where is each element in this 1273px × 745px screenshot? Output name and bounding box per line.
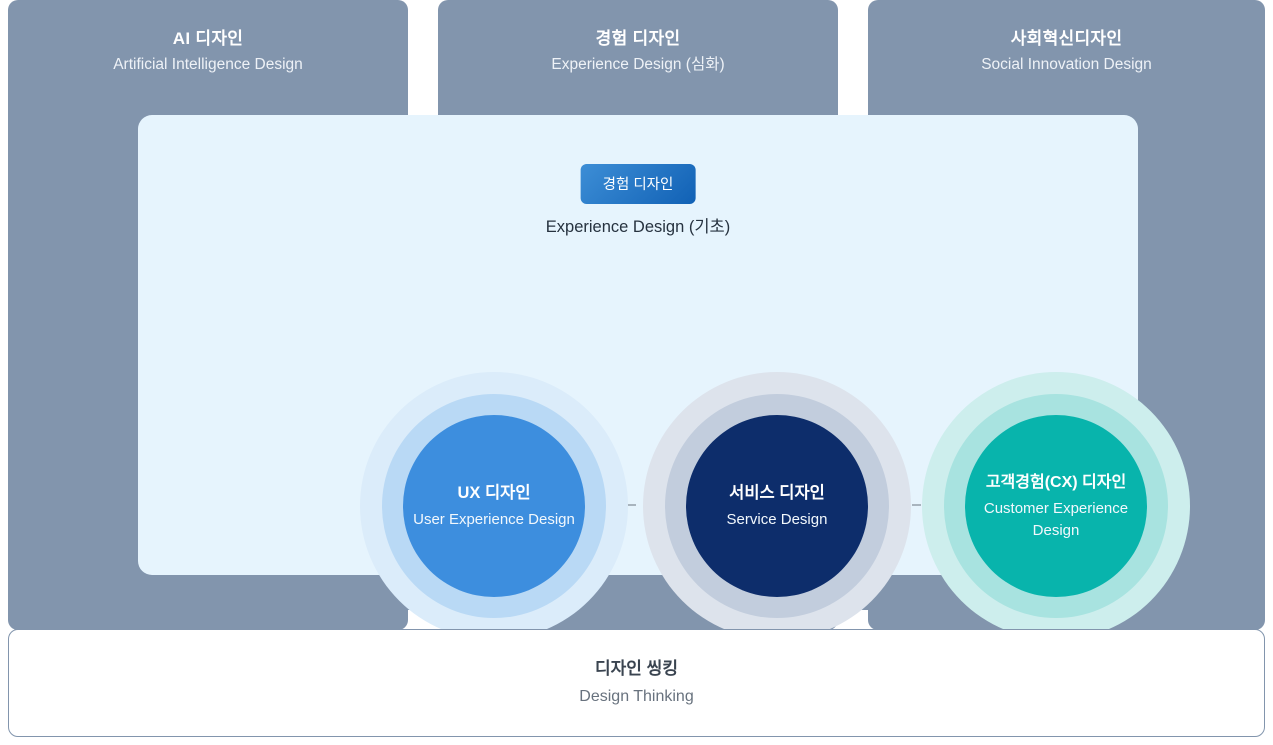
diagram-canvas: AI 디자인 Artificial Intelligence Design 경험… [0, 0, 1273, 745]
panel-ai-design-title-ko: AI 디자인 [8, 26, 408, 52]
circle-service-design-title-en: Service Design [727, 509, 828, 531]
panel-experience-design-title-ko: 경험 디자인 [438, 26, 838, 52]
circle-group-service-design[interactable]: 서비스 디자인 Service Design [643, 372, 911, 640]
experience-design-card: 경험 디자인 Experience Design (기초) UX 디자인 Use… [138, 115, 1138, 575]
circle-core-service-design: 서비스 디자인 Service Design [686, 415, 868, 597]
experience-design-badge[interactable]: 경험 디자인 [581, 164, 696, 204]
circle-service-design-title-ko: 서비스 디자인 [729, 481, 825, 506]
panel-social-innovation-title-ko: 사회혁신디자인 [868, 26, 1265, 52]
design-thinking-title-ko: 디자인 씽킹 [595, 655, 678, 683]
circle-cx-design-title-en: Customer Experience Design [973, 498, 1139, 542]
circle-group-cx-design[interactable]: 고객경험(CX) 디자인 Customer Experience Design [922, 372, 1190, 640]
panel-social-innovation-title-en: Social Innovation Design [868, 52, 1265, 78]
circle-group-ux-design[interactable]: UX 디자인 User Experience Design [360, 372, 628, 640]
panel-ai-design-title-en: Artificial Intelligence Design [8, 52, 408, 78]
design-thinking-bar: 디자인 씽킹 Design Thinking [8, 629, 1265, 737]
design-thinking-title-en: Design Thinking [579, 683, 693, 711]
circle-cx-design-title-ko: 고객경험(CX) 디자인 [986, 470, 1126, 495]
panel-experience-design-title-en: Experience Design (심화) [438, 52, 838, 78]
circle-core-ux-design: UX 디자인 User Experience Design [403, 415, 585, 597]
circle-core-cx-design: 고객경험(CX) 디자인 Customer Experience Design [965, 415, 1147, 597]
experience-design-badge-caption: Experience Design (기초) [546, 213, 730, 237]
circle-ux-design-title-ko: UX 디자인 [457, 481, 530, 506]
circle-ux-design-title-en: User Experience Design [413, 509, 575, 531]
